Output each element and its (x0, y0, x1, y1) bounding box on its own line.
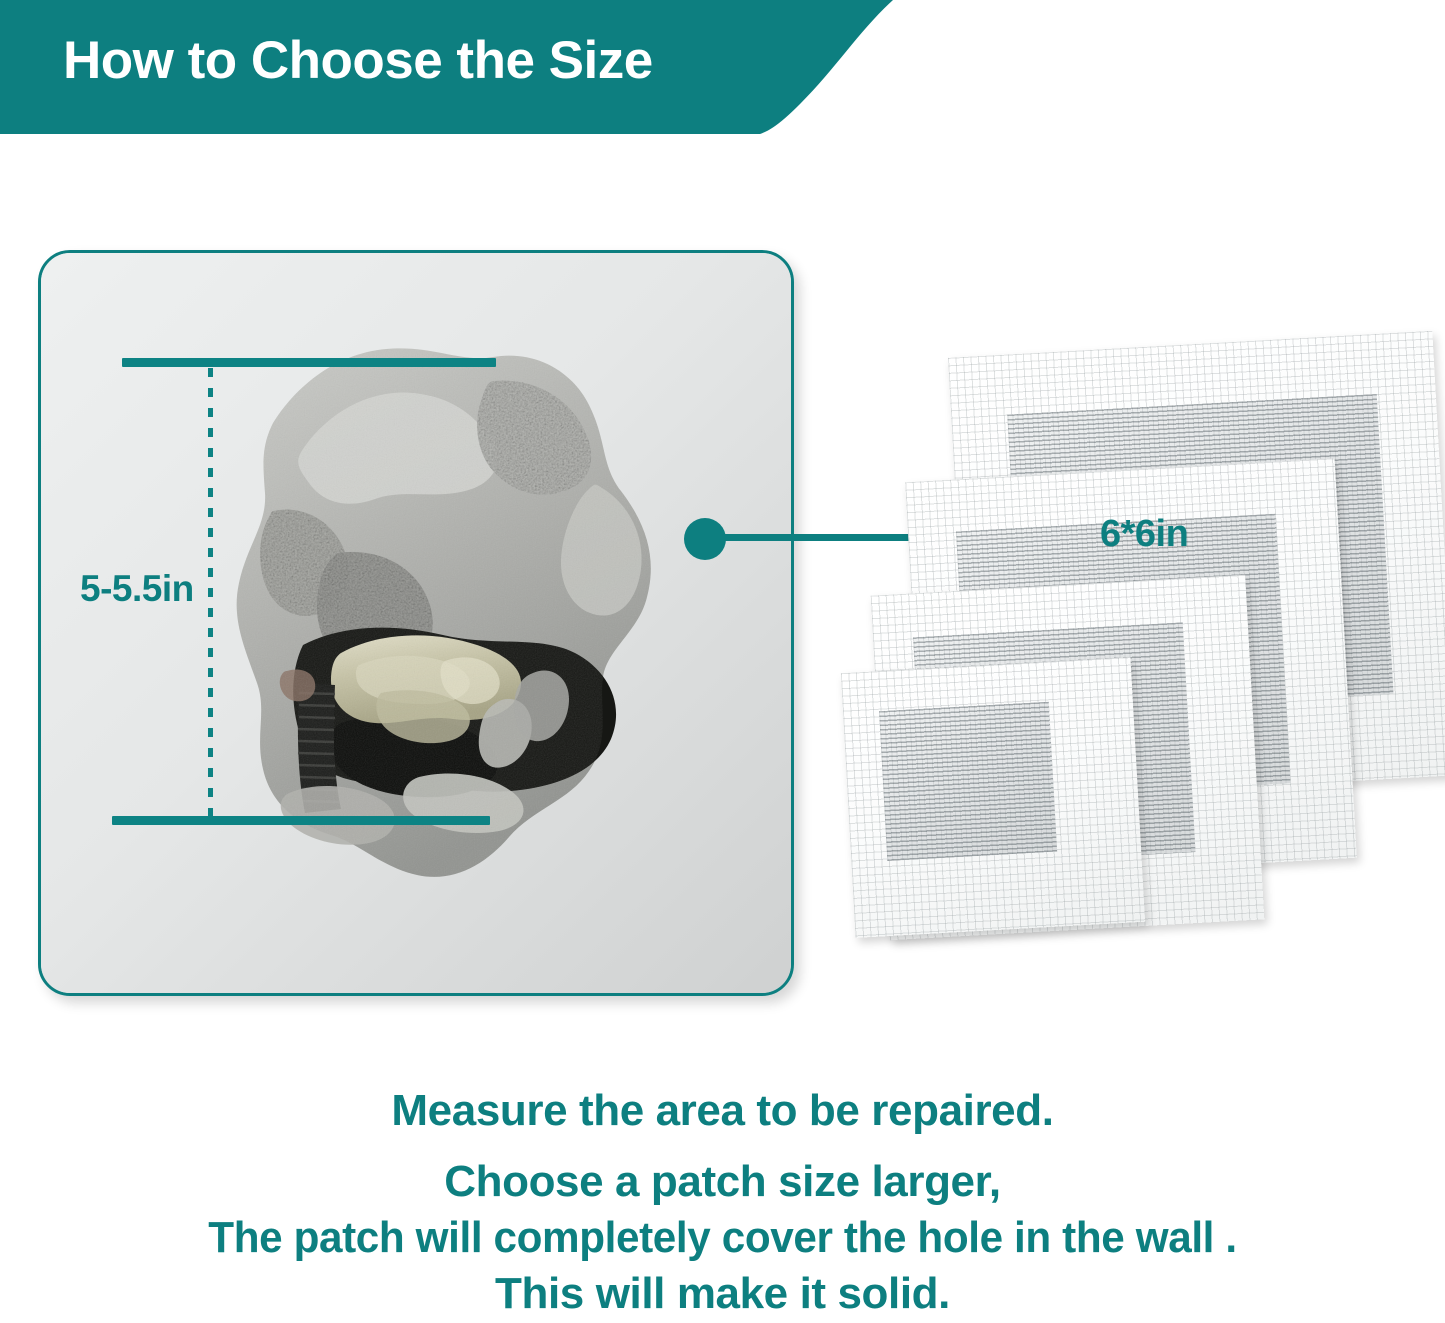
patch-stack (838, 330, 1445, 930)
patch-size-label: 6*6in (1100, 513, 1188, 556)
instruction-line-1: Measure the area to be repaired. (0, 1082, 1445, 1140)
instruction-line-3: The patch will completely cover the hole… (29, 1210, 1416, 1266)
instruction-line-4: This will make it solid. (0, 1266, 1445, 1322)
dimension-line-dotted (208, 368, 213, 818)
dimension-line-bottom (112, 816, 490, 825)
patch-small (841, 657, 1145, 938)
page-title: How to Choose the Size (63, 30, 653, 91)
instructions-block: Measure the area to be repaired. Choose … (0, 1082, 1445, 1322)
instruction-line-2: Choose a patch size larger, (0, 1154, 1445, 1210)
patch-mesh-core (879, 702, 1057, 861)
dimension-line-top (122, 358, 496, 367)
hole-size-label: 5-5.5in (80, 568, 194, 610)
